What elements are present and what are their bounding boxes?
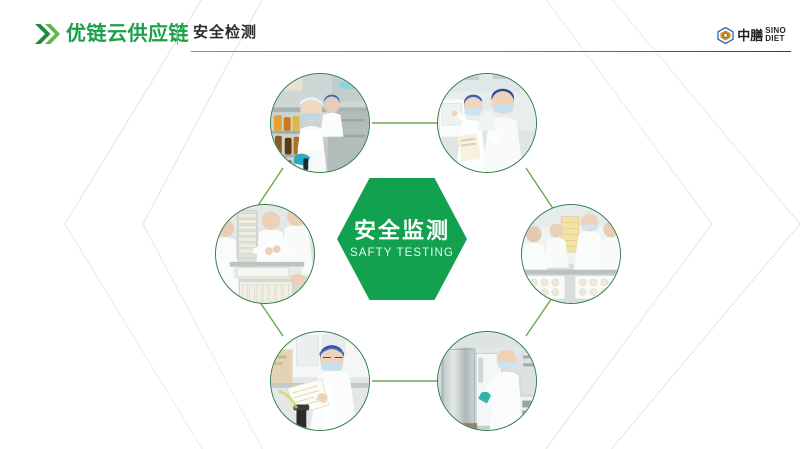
diagram-node-right[interactable] — [521, 204, 621, 304]
diagram-node-bottom-right[interactable] — [437, 331, 537, 431]
diagram-node-bottom-left[interactable] — [270, 331, 370, 431]
node-photo-refrigerator-check — [438, 332, 536, 430]
node-photo-inspectors-recording — [438, 74, 536, 172]
node-photo-record-review — [271, 332, 369, 430]
node-photo-lab-sample-inspection — [271, 74, 369, 172]
diagram-node-left[interactable] — [215, 204, 315, 304]
center-title-cn: 安全监测 — [354, 219, 450, 243]
center-title-en: SAFTY TESTING — [350, 247, 454, 259]
safety-testing-diagram: 安全监测 SAFTY TESTING — [0, 0, 800, 449]
diagram-node-top-right[interactable] — [437, 73, 537, 173]
node-photo-meal-tray-inspection — [522, 205, 620, 303]
slide-canvas: 优链云供应链 安全检测 中膳 SINO DIET — [0, 0, 800, 449]
diagram-node-top-left[interactable] — [270, 73, 370, 173]
node-photo-meal-packing-line — [216, 205, 314, 303]
